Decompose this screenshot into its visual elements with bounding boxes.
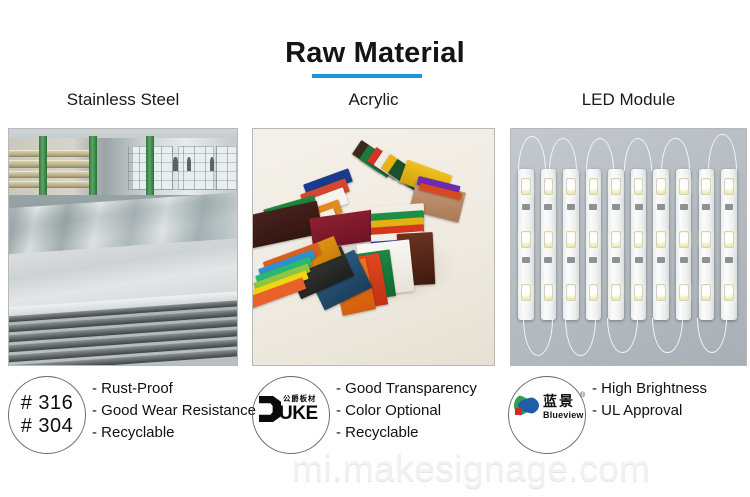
- led-resistor: [567, 257, 575, 263]
- feature-list-acrylic: - Good Transparency - Color Optional - R…: [336, 378, 477, 444]
- led-chip-light: [701, 231, 711, 248]
- led-resistor: [567, 204, 575, 210]
- led-chip-light: [521, 178, 531, 195]
- led-chip-light: [589, 178, 599, 195]
- feature-block-stainless-steel: # 316 # 304 - Rust-Proof - Good Wear Res…: [8, 374, 248, 456]
- led-resistor: [702, 257, 710, 263]
- registered-trademark-icon: ®: [580, 392, 585, 399]
- green-pillar: [39, 136, 47, 197]
- led-chip-light: [611, 231, 621, 248]
- led-resistor: [544, 204, 552, 210]
- led-module: [563, 169, 579, 320]
- led-module: [541, 169, 557, 320]
- led-chip-light: [679, 178, 689, 195]
- led-resistor: [725, 204, 733, 210]
- blueview-logo-badge: 蓝景 ® Blueview: [508, 376, 586, 454]
- led-resistor: [522, 257, 530, 263]
- led-resistor: [635, 204, 643, 210]
- led-resistor: [702, 204, 710, 210]
- worker-silhouette: [173, 157, 178, 171]
- feature-list-stainless-steel: - Rust-Proof - Good Wear Resistance - Re…: [92, 378, 256, 444]
- led-module: [518, 169, 534, 320]
- led-chip-light: [566, 231, 576, 248]
- led-chip-light: [679, 231, 689, 248]
- grade-badge-line-2: # 304: [21, 415, 74, 438]
- led-resistor: [657, 204, 665, 210]
- duke-chinese-text: 公爵板材: [283, 395, 316, 403]
- feature-item: - Good Wear Resistance: [92, 400, 256, 422]
- photo-panel-led-module: [510, 128, 747, 366]
- led-resistor: [680, 204, 688, 210]
- led-resistor: [612, 257, 620, 263]
- led-chip-light: [634, 231, 644, 248]
- led-chip-light: [611, 284, 621, 301]
- raw-material-infographic: Raw Material Stainless Steel Acrylic LED…: [0, 0, 750, 497]
- feature-block-led-module: 蓝景 ® Blueview - High Brightness - UL App…: [508, 374, 748, 456]
- feature-item: - Recyclable: [92, 422, 256, 444]
- led-resistor: [612, 204, 620, 210]
- blueview-swoosh-icon: [514, 395, 540, 417]
- column-label-stainless-steel: Stainless Steel: [8, 89, 238, 111]
- led-chip-light: [589, 284, 599, 301]
- feature-block-acrylic: 公爵板材 UKE - Good Transparency - Color Opt…: [252, 374, 502, 456]
- led-resistor: [589, 204, 597, 210]
- photo-panel-acrylic: [252, 128, 495, 366]
- led-resistor: [589, 257, 597, 263]
- led-chip-light: [724, 178, 734, 195]
- led-resistor: [725, 257, 733, 263]
- feature-item: - Rust-Proof: [92, 378, 256, 400]
- rack-plank: [9, 171, 91, 179]
- led-chip-light: [724, 284, 734, 301]
- feature-list-led-module: - High Brightness - UL Approval: [592, 378, 707, 422]
- green-pillar: [146, 136, 154, 197]
- photo-panel-stainless-steel: [8, 128, 238, 366]
- led-chip-light: [521, 231, 531, 248]
- duke-wordmark: UKE: [279, 404, 318, 423]
- led-chip-light: [566, 178, 576, 195]
- led-chip-light: [634, 284, 644, 301]
- duke-logo: 公爵板材 UKE: [259, 395, 329, 423]
- led-chip-light: [611, 178, 621, 195]
- led-module: [676, 169, 692, 320]
- led-resistor: [522, 204, 530, 210]
- led-chip-light: [656, 231, 666, 248]
- rack-plank: [9, 160, 91, 168]
- green-pillar: [89, 136, 97, 197]
- stainless-steel-photo: [9, 129, 237, 365]
- led-module: [586, 169, 602, 320]
- led-chip-light: [634, 178, 644, 195]
- page-title: Raw Material: [285, 36, 465, 70]
- grade-badge: # 316 # 304: [8, 376, 86, 454]
- led-chip-light: [656, 178, 666, 195]
- title-underline-accent: [312, 74, 422, 78]
- column-label-led-module: LED Module: [510, 89, 747, 111]
- duke-d-mark-icon: [259, 396, 281, 422]
- led-chip-light: [544, 284, 554, 301]
- acrylic-photo: [253, 129, 494, 365]
- site-watermark: mi.makesignage.com: [292, 449, 651, 489]
- rack-plank: [9, 150, 91, 158]
- warehouse-window-grid: [128, 146, 237, 191]
- led-resistor: [680, 257, 688, 263]
- column-labels: Stainless Steel Acrylic LED Module: [0, 89, 750, 115]
- led-chip-light: [679, 284, 689, 301]
- led-module: [721, 169, 737, 320]
- led-chip-light: [701, 284, 711, 301]
- worker-silhouette: [210, 157, 215, 171]
- feature-item: - UL Approval: [592, 400, 707, 422]
- duke-logo-badge: 公爵板材 UKE: [252, 376, 330, 454]
- grade-badge-line-1: # 316: [21, 392, 74, 415]
- led-module: [699, 169, 715, 320]
- feature-item: - High Brightness: [592, 378, 707, 400]
- led-module: [631, 169, 647, 320]
- column-label-acrylic: Acrylic: [252, 89, 495, 111]
- led-resistor: [635, 257, 643, 263]
- blueview-logo: 蓝景 ® Blueview: [514, 393, 590, 427]
- led-chip-light: [589, 231, 599, 248]
- feature-item: - Recyclable: [336, 422, 477, 444]
- feature-item: - Good Transparency: [336, 378, 477, 400]
- worker-silhouette: [187, 157, 192, 171]
- feature-item: - Color Optional: [336, 400, 477, 422]
- led-module: [653, 169, 669, 320]
- rack-plank: [9, 181, 91, 189]
- led-chip-light: [566, 284, 576, 301]
- led-chip-light: [544, 178, 554, 195]
- swoosh-red-square: [515, 408, 522, 415]
- blueview-wordmark: Blueview: [543, 410, 584, 420]
- timber-rack: [9, 148, 91, 195]
- led-module: [608, 169, 624, 320]
- led-module-photo: [511, 129, 746, 365]
- page-title-container: Raw Material: [0, 36, 750, 70]
- led-resistor: [657, 257, 665, 263]
- led-resistor: [544, 257, 552, 263]
- led-chip-light: [544, 231, 554, 248]
- led-chip-light: [521, 284, 531, 301]
- led-chip-light: [724, 231, 734, 248]
- led-chip-light: [656, 284, 666, 301]
- led-chip-light: [701, 178, 711, 195]
- blueview-chinese-text: 蓝景: [543, 393, 575, 409]
